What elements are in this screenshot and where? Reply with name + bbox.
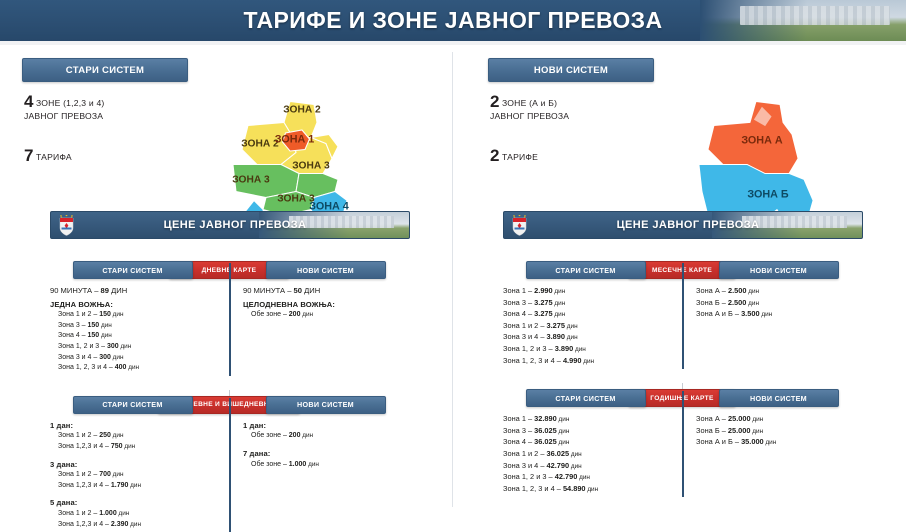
price-row-unit: дин [760,311,773,318]
price-row-unit: дин [111,354,124,361]
monthly-new-system-text: Зона А – 2.500 дин Зона Б – 2.500 дин Зо… [696,286,861,321]
left-zones-sub: ЈАВНОГ ПРЕВОЗА [24,110,104,123]
price-row-value: 200 [289,432,301,439]
price-row-unit: дин [128,482,141,489]
price-row: Зона 1 и 2 – 700 дин [50,470,215,481]
right-zones-count: 2 [490,92,499,111]
price-row-zone: Зона 3 – [503,298,534,307]
price-row-value: 150 [99,311,111,318]
price-row-zone: Зона 4 – [503,437,534,446]
price-row-value: 200 [289,311,301,318]
left-price-card: ЦЕНЕ ЈАВНОГ ПРЕВОЗА ДНЕВНЕ КАРТЕ СТАРИ С… [50,211,408,530]
left-tariffs-label: ТАРИФА [36,152,72,162]
price-row: Зона 3 и 4 – 300 дин [50,353,215,364]
daily-block-separator [229,263,231,376]
price-row-zone: Зона 1 и 2 – [503,449,547,458]
price-row-value: 1.000 [99,510,117,517]
price-row-unit: дин [117,510,130,517]
price-row-value: 150 [88,322,100,329]
price-row: Зона 1, 2, 3 и 4 – 400 дин [50,363,215,374]
price-row-value: 54.890 [563,484,586,493]
left-price-card-header: ЦЕНЕ ЈАВНОГ ПРЕВОЗА [50,211,410,239]
price-row: Зона А и Б – 3.500 дин [696,309,861,321]
price-row-unit: дин [751,416,764,423]
price-row-unit: дин [111,432,124,439]
daily-old-topline-unit: ДИН [109,286,127,295]
price-row: Зона 4 – 36.025 дин [503,437,668,449]
price-row-value: 42.790 [555,472,578,481]
price-row-zone: Зона 1 – [503,286,534,295]
price-row-unit: дин [119,343,132,350]
page-title: ТАРИФЕ И ЗОНЕ ЈАВНОГ ПРЕВОЗА [0,0,906,41]
price-row-zone: Зона А и Б – [696,309,741,318]
multiday-tickets-block: ЈЕДНОДНЕВНЕ И ВИШЕДНЕВНЕ КАРТЕ СТАРИ СИС… [50,396,408,530]
price-row-value: 3.275 [547,321,566,330]
price-row-value: 3.890 [547,332,566,341]
price-row-value: 750 [111,443,123,450]
price-row-zone: Зона А и Б – [696,437,741,446]
price-row-unit: дин [573,346,586,353]
price-row: Зона 3 – 36.025 дин [503,426,668,438]
price-row: Зона 1 и 2 – 1.000 дин [50,509,215,520]
old-map-zone-label-2b: ЗОНА 2 [283,104,321,115]
price-row-zone: Зона 3 и 4 – [58,354,99,361]
left-price-card-title: ЦЕНЕ ЈАВНОГ ПРЕВОЗА [51,212,409,238]
multiday-group-title: 5 дана: [50,498,215,509]
price-row-unit: дин [300,432,313,439]
price-row-unit: дин [577,474,590,481]
price-row-zone: Зона 1, 2 и 3 – [58,343,107,350]
price-row: Зона 1 и 2 – 3.275 дин [503,321,668,333]
old-map-zone-label-1: ЗОНА 1 [275,133,315,145]
price-row-unit: дин [111,471,124,478]
price-row-unit: дин [565,323,578,330]
price-row-zone: Зона 4 – [58,332,88,339]
multiday-new-system-text: 1 дан: Обе зоне – 200 дин 7 дана: Обе зо… [243,421,408,470]
daily-old-topline-value: 89 [101,286,109,295]
price-row-zone: Зона 1 и 2 – [58,432,99,439]
price-row: Зона 3 – 3.275 дин [503,298,668,310]
price-row-unit: дин [123,443,136,450]
price-row-value: 2.500 [728,298,747,307]
left-tariffs-count: 7 [24,146,33,165]
price-row-zone: Зона 1,2,3 и 4 – [58,521,111,528]
price-row: Зона 1,2,3 и 4 – 1.790 дин [50,481,215,492]
price-row-zone: Зона 1,2,3 и 4 – [58,482,111,489]
price-row: Зона 1, 2, 3 и 4 – 4.990 дин [503,356,668,368]
price-row-zone: Зона А – [696,286,728,295]
price-row-value: 250 [99,432,111,439]
price-row-unit: дин [764,439,777,446]
price-row-value: 2.390 [111,521,129,528]
monthly-block-separator [682,263,684,369]
price-row-value: 1.000 [289,461,307,468]
price-row-value: 35.000 [741,437,764,446]
price-row-zone: Зона 1 и 2 – [58,471,99,478]
left-zones-count: 4 [24,92,33,111]
price-row-value: 3.275 [534,309,553,318]
price-row: Зона А и Б – 35.000 дин [696,437,861,449]
price-row-value: 3.500 [741,309,760,318]
price-row: Зона 1, 2, 3 и 4 – 54.890 дин [503,484,668,496]
daily-old-topline-prefix: 90 МИНУТА – [50,286,101,295]
right-zones-sub: ЈАВНОГ ПРЕВОЗА [490,110,569,123]
price-row: Зона Б – 2.500 дин [696,298,861,310]
price-row-value: 2.500 [728,286,747,295]
price-row-zone: Зона Б – [696,426,728,435]
daily-new-topline-unit: ДИН [302,286,320,295]
price-row: Зона 1 и 2 – 150 дин [50,310,215,321]
multiday-group-title: 1 дан: [243,421,408,432]
price-row: Зона 1, 2 и 3 – 300 дин [50,342,215,353]
left-column-old-system: СТАРИ СИСТЕМ 4 ЗОНЕ (1,2,3 и 4) ЈАВНОГ П… [0,45,453,513]
price-row-zone: Зона 1, 2, 3 и 4 – [58,364,115,371]
price-row-unit: дин [111,311,124,318]
price-row-zone: Обе зоне – [251,461,289,468]
price-row-unit: дин [128,521,141,528]
multiday-new-system-header: НОВИ СИСТЕМ [266,396,386,414]
price-row-zone: Зона 1, 2, 3 и 4 – [503,484,563,493]
price-row-zone: Зона 3 – [58,322,88,329]
price-row: Зона 3 – 150 дин [50,321,215,332]
price-row: Зона 1 – 32.890 дин [503,414,668,426]
price-row-unit: дин [99,332,112,339]
price-row: Зона 1,2,3 и 4 – 2.390 дин [50,520,215,531]
price-row-value: 300 [99,354,111,361]
old-map-zone-label-3b: ЗОНА 3 [292,161,330,172]
monthly-old-system-header: СТАРИ СИСТЕМ [526,261,646,279]
multiday-group-title: 3 дана: [50,460,215,471]
price-row: Зона 4 – 150 дин [50,331,215,342]
price-row: Зона 3 и 4 – 3.890 дин [503,332,668,344]
daily-new-system-header: НОВИ СИСТЕМ [266,261,386,279]
price-row-zone: Зона 3 и 4 – [503,332,547,341]
left-system-header: СТАРИ СИСТЕМ [22,58,188,82]
daily-old-section: ЈЕДНА ВОЖЊА: [50,300,215,311]
monthly-old-system-column: СТАРИ СИСТЕМ Зона 1 – 2.990 дин Зона 3 –… [503,261,682,367]
price-row-zone: Зона 3 и 4 – [503,461,547,470]
yearly-new-system-text: Зона А – 25.000 дин Зона Б – 25.000 дин … [696,414,861,449]
yearly-block-separator [682,391,684,497]
left-zone-summary: 4 ЗОНЕ (1,2,3 и 4) ЈАВНОГ ПРЕВОЗА 7 ТАРИ… [24,95,104,164]
daily-new-topline-value: 50 [294,286,302,295]
multiday-group-title: 7 дана: [243,449,408,460]
right-zones-label: ЗОНЕ (А и Б) [502,98,557,108]
price-row: Обе зоне – 200 дин [243,310,408,321]
new-map-zone-label-b: ЗОНА Б [747,189,789,201]
daily-old-system-text: 90 МИНУТА – 89 ДИН ЈЕДНА ВОЖЊА: Зона 1 и… [50,286,215,374]
price-row-value: 3.890 [555,344,574,353]
price-row-unit: дин [557,439,570,446]
left-zones-label: ЗОНЕ (1,2,3 и 4) [36,98,105,108]
daily-new-section: ЦЕЛОДНЕВНА ВОЖЊА: [243,300,408,311]
page-banner: ТАРИФЕ И ЗОНЕ ЈАВНОГ ПРЕВОЗА [0,0,906,41]
price-row-zone: Зона А – [696,414,728,423]
price-row-value: 2.990 [534,286,553,295]
price-row-unit: дин [746,300,759,307]
price-row: Зона 1 и 2 – 36.025 дин [503,449,668,461]
daily-new-topline-prefix: 90 МИНУТА – [243,286,294,295]
multiday-old-system-text: 1 дан: Зона 1 и 2 – 250 дин Зона 1,2,3 и… [50,421,215,530]
yearly-new-system-header: НОВИ СИСТЕМ [719,389,839,407]
price-row-value: 42.790 [547,461,570,470]
price-row-unit: дин [300,311,313,318]
right-price-card: ЦЕНЕ ЈАВНОГ ПРЕВОЗА МЕСЕЧНЕ КАРТЕ СТАРИ … [503,211,861,495]
monthly-new-system-column: НОВИ СИСТЕМ Зона А – 2.500 дин Зона Б – … [682,261,861,367]
multiday-new-system-column: НОВИ СИСТЕМ 1 дан: Обе зоне – 200 дин 7 … [229,396,408,530]
price-row-zone: Обе зоне – [251,432,289,439]
yearly-new-system-column: НОВИ СИСТЕМ Зона А – 25.000 дин Зона Б –… [682,389,861,495]
price-row-zone: Зона 1 – [503,414,534,423]
price-row-unit: дин [553,300,566,307]
old-map-zone-label-3a: ЗОНА 3 [232,175,270,186]
price-row-unit: дин [569,451,582,458]
price-row-unit: дин [557,416,570,423]
daily-old-system-header: СТАРИ СИСТЕМ [73,261,193,279]
price-row-unit: дин [565,334,578,341]
price-row-zone: Зона 1, 2, 3 и 4 – [503,356,563,365]
right-column-new-system: НОВИ СИСТЕМ 2 ЗОНЕ (А и Б) ЈАВНОГ ПРЕВОЗ… [453,45,906,513]
right-price-card-header: ЦЕНЕ ЈАВНОГ ПРЕВОЗА [503,211,863,239]
price-row-value: 300 [107,343,119,350]
yearly-old-system-column: СТАРИ СИСТЕМ Зона 1 – 32.890 дин Зона 3 … [503,389,682,495]
price-row: Зона 1 и 2 – 250 дин [50,431,215,442]
price-row-zone: Зона 4 – [503,309,534,318]
multiday-block-separator [229,398,231,532]
price-row: Зона 1,2,3 и 4 – 750 дин [50,442,215,453]
price-row-unit: дин [746,288,759,295]
yearly-old-system-text: Зона 1 – 32.890 дин Зона 3 – 36.025 дин … [503,414,668,495]
daily-new-system-text: 90 МИНУТА – 50 ДИН ЦЕЛОДНЕВНА ВОЖЊА: Обе… [243,286,408,321]
price-row-zone: Зона 1, 2 и 3 – [503,472,555,481]
right-zone-summary: 2 ЗОНЕ (А и Б) ЈАВНОГ ПРЕВОЗА 2 ТАРИФЕ [490,95,569,164]
price-row-zone: Зона 1, 2 и 3 – [503,344,555,353]
right-tariffs-count: 2 [490,146,499,165]
price-row-unit: дин [586,486,599,493]
price-row-zone: Обе зоне – [251,311,289,318]
price-row-value: 3.275 [534,298,553,307]
price-row-unit: дин [99,322,112,329]
daily-old-system-column: СТАРИ СИСТЕМ 90 МИНУТА – 89 ДИН ЈЕДНА ВО… [50,261,229,374]
daily-tickets-block: ДНЕВНЕ КАРТЕ СТАРИ СИСТЕМ 90 МИНУТА – 89… [50,261,408,374]
right-tariffs-label: ТАРИФЕ [502,152,538,162]
price-row: Зона Б – 25.000 дин [696,426,861,438]
price-row-zone: Зона Б – [696,298,728,307]
price-row: Обе зоне – 200 дин [243,431,408,442]
yearly-tickets-block: ГОДИШЊЕ КАРТЕ СТАРИ СИСТЕМ Зона 1 – 32.8… [503,389,861,495]
price-row: Зона 1 – 2.990 дин [503,286,668,298]
price-row-value: 1.790 [111,482,129,489]
price-row-value: 36.025 [534,426,557,435]
monthly-tickets-block: МЕСЕЧНЕ КАРТЕ СТАРИ СИСТЕМ Зона 1 – 2.99… [503,261,861,367]
price-row-value: 150 [88,332,100,339]
price-row: Зона А – 2.500 дин [696,286,861,298]
price-row-value: 4.990 [563,356,582,365]
daily-new-system-column: НОВИ СИСТЕМ 90 МИНУТА – 50 ДИН ЦЕЛОДНЕВН… [229,261,408,374]
price-row-value: 36.025 [534,437,557,446]
monthly-new-system-header: НОВИ СИСТЕМ [719,261,839,279]
old-map-zone-label-2a: ЗОНА 2 [241,139,279,150]
price-row: Зона 1, 2 и 3 – 42.790 дин [503,472,668,484]
price-row-unit: дин [557,428,570,435]
monthly-old-system-text: Зона 1 – 2.990 дин Зона 3 – 3.275 дин Зо… [503,286,668,367]
new-map-zone-label-a: ЗОНА А [741,135,783,147]
price-row-unit: дин [553,311,566,318]
price-row-unit: дин [306,461,319,468]
price-row-unit: дин [126,364,139,371]
price-row-zone: Зона 1,2,3 и 4 – [58,443,111,450]
price-row-unit: дин [751,428,764,435]
infographic-page: ТАРИФЕ И ЗОНЕ ЈАВНОГ ПРЕВОЗА СТАРИ СИСТЕ… [0,0,906,513]
price-row-value: 36.025 [547,449,570,458]
price-row-zone: Зона 1 и 2 – [503,321,547,330]
multiday-group-title: 1 дан: [50,421,215,432]
price-row: Зона 1, 2 и 3 – 3.890 дин [503,344,668,356]
price-row: Зона А – 25.000 дин [696,414,861,426]
price-row-zone: Зона 1 и 2 – [58,510,99,517]
price-row-value: 25.000 [728,414,751,423]
price-row-zone: Зона 1 и 2 – [58,311,99,318]
price-row-unit: дин [553,288,566,295]
price-row: Зона 3 и 4 – 42.790 дин [503,461,668,473]
yearly-old-system-header: СТАРИ СИСТЕМ [526,389,646,407]
right-system-header: НОВИ СИСТЕМ [488,58,654,82]
price-row-value: 400 [115,364,127,371]
right-price-card-title: ЦЕНЕ ЈАВНОГ ПРЕВОЗА [504,212,862,238]
price-row: Зона 4 – 3.275 дин [503,309,668,321]
price-row-value: 700 [99,471,111,478]
price-row-unit: дин [581,358,594,365]
price-row-zone: Зона 3 – [503,426,534,435]
price-row-value: 32.890 [534,414,557,423]
multiday-old-system-header: СТАРИ СИСТЕМ [73,396,193,414]
price-row-value: 25.000 [728,426,751,435]
price-row-unit: дин [569,463,582,470]
multiday-old-system-column: СТАРИ СИСТЕМ 1 дан: Зона 1 и 2 – 250 дин… [50,396,229,530]
price-row: Обе зоне – 1.000 дин [243,460,408,471]
